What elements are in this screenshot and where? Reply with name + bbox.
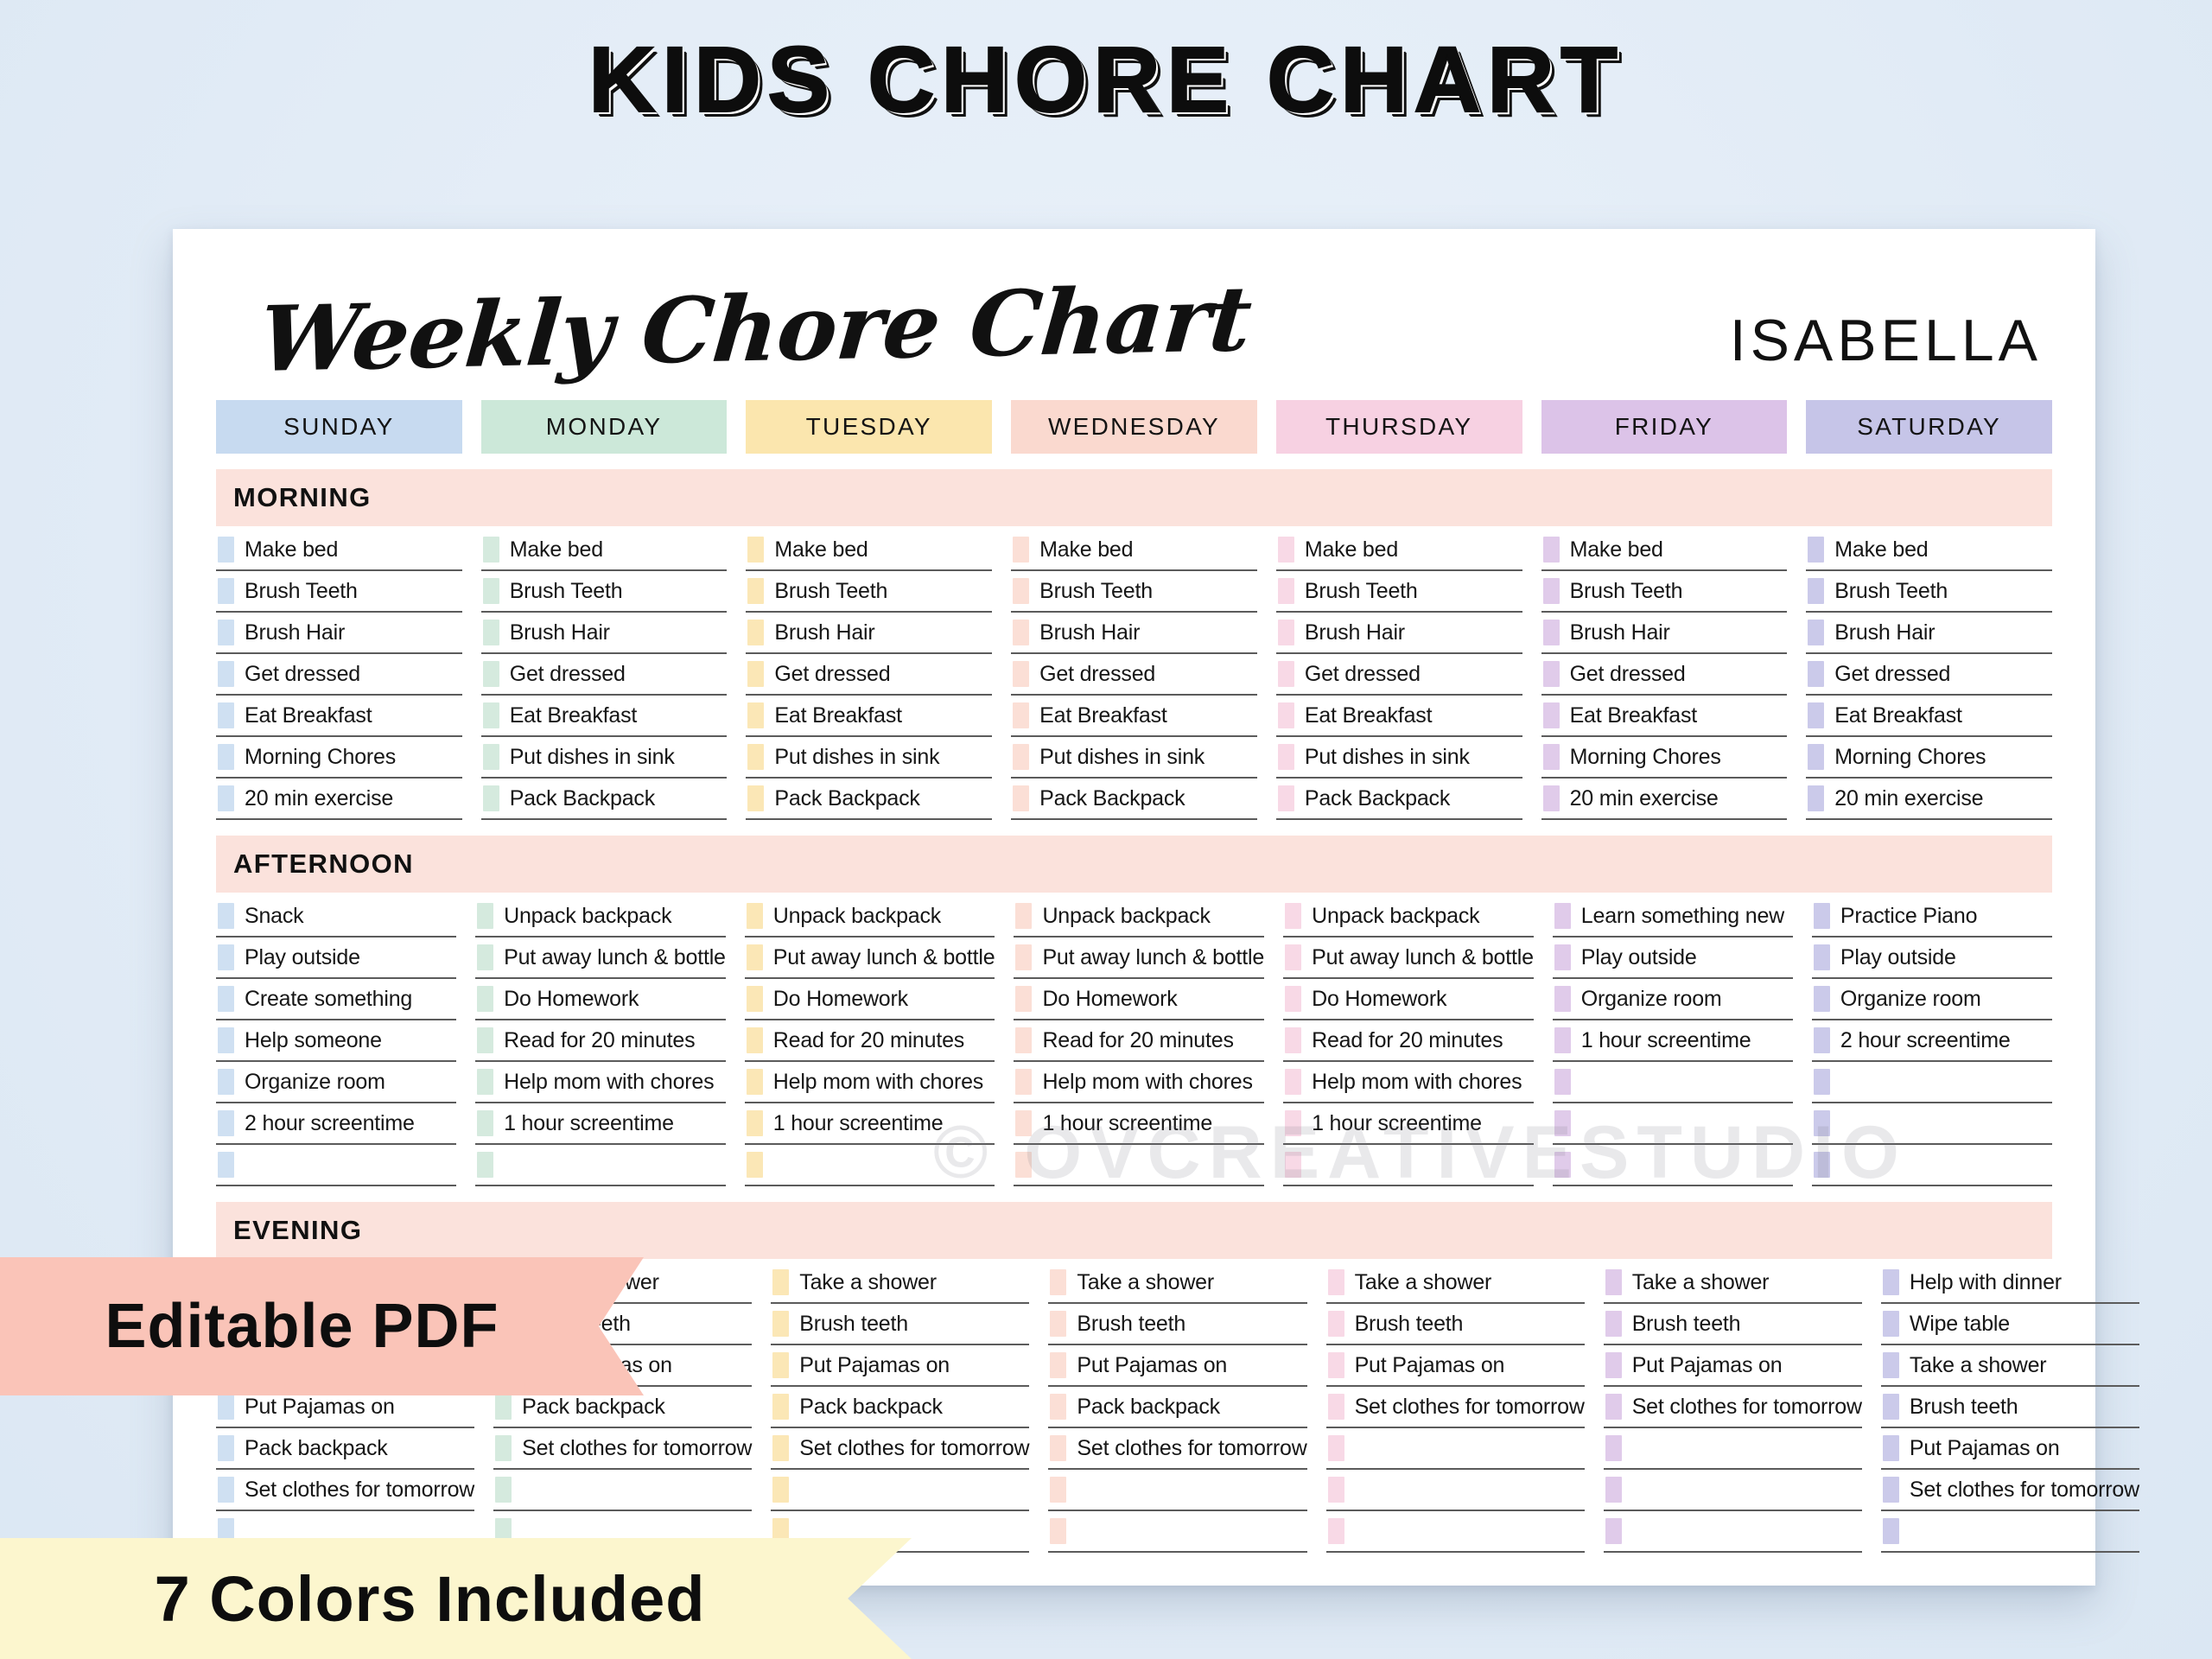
task-label: Brush Teeth <box>774 579 887 604</box>
task-row[interactable]: Help mom with chores <box>745 1062 995 1103</box>
checkbox-icon[interactable] <box>218 903 234 929</box>
checkbox-icon[interactable] <box>772 1477 789 1503</box>
checkbox-icon[interactable] <box>747 785 764 811</box>
task-row[interactable]: Put Pajamas on <box>1048 1345 1306 1387</box>
task-row[interactable]: Brush Hair <box>1541 613 1788 654</box>
task-row[interactable]: Learn something new <box>1553 896 1793 938</box>
task-row[interactable]: Make bed <box>216 530 462 571</box>
checkbox-icon[interactable] <box>1554 986 1571 1012</box>
task-row[interactable]: Read for 20 minutes <box>475 1020 726 1062</box>
task-row[interactable]: Brush teeth <box>1604 1304 1862 1345</box>
task-row[interactable]: Put away lunch & bottle <box>475 938 726 979</box>
task-row[interactable]: Get dressed <box>1541 654 1788 696</box>
checkbox-icon[interactable] <box>747 702 764 728</box>
checkbox-icon[interactable] <box>1808 702 1824 728</box>
checkbox-icon[interactable] <box>1013 702 1029 728</box>
checkbox-icon[interactable] <box>1808 785 1824 811</box>
task-row[interactable]: Read for 20 minutes <box>1283 1020 1534 1062</box>
task-row[interactable]: Morning Chores <box>1806 737 2052 779</box>
checkbox-icon[interactable] <box>218 702 234 728</box>
checkbox-icon[interactable] <box>1050 1477 1066 1503</box>
task-row[interactable]: Pack Backpack <box>1011 779 1257 820</box>
task-row[interactable]: Make bed <box>1806 530 2052 571</box>
checkbox-icon[interactable] <box>1543 620 1560 645</box>
checkbox-icon[interactable] <box>747 986 763 1012</box>
task-row[interactable]: Do Homework <box>1283 979 1534 1020</box>
checkbox-icon[interactable] <box>1013 785 1029 811</box>
task-row[interactable]: Get dressed <box>746 654 992 696</box>
task-row[interactable]: Set clothes for tomorrow <box>216 1470 474 1511</box>
task-row[interactable]: Morning Chores <box>216 737 462 779</box>
task-row[interactable]: Put away lunch & bottle <box>1014 938 1264 979</box>
checkbox-icon[interactable] <box>747 1110 763 1136</box>
checkbox-icon[interactable] <box>483 702 499 728</box>
task-row[interactable]: Get dressed <box>1011 654 1257 696</box>
checkbox-icon[interactable] <box>1543 785 1560 811</box>
checkbox-icon[interactable] <box>1554 903 1571 929</box>
task-row[interactable]: Put away lunch & bottle <box>1283 938 1534 979</box>
checkbox-icon[interactable] <box>1814 903 1830 929</box>
task-row[interactable]: Pack backpack <box>771 1387 1029 1428</box>
task-row[interactable] <box>1048 1470 1306 1511</box>
checkbox-icon[interactable] <box>747 620 764 645</box>
day-header-saturday[interactable]: SATURDAY <box>1806 400 2052 454</box>
checkbox-icon[interactable] <box>1278 620 1294 645</box>
checkbox-icon[interactable] <box>1808 578 1824 604</box>
task-row[interactable]: Put Pajamas on <box>1326 1345 1585 1387</box>
task-label: Do Homework <box>1042 987 1177 1012</box>
task-row[interactable] <box>1812 1062 2052 1103</box>
checkbox-icon[interactable] <box>747 944 763 970</box>
task-row[interactable]: Set clothes for tomorrow <box>493 1428 752 1470</box>
checkbox-icon[interactable] <box>218 1435 234 1461</box>
checkbox-icon[interactable] <box>477 944 493 970</box>
task-row[interactable]: Eat Breakfast <box>216 696 462 737</box>
checkbox-icon[interactable] <box>483 785 499 811</box>
checkbox-icon[interactable] <box>772 1352 789 1378</box>
checkbox-icon[interactable] <box>218 537 234 563</box>
checkbox-icon[interactable] <box>1278 744 1294 770</box>
checkbox-icon[interactable] <box>1050 1311 1066 1337</box>
checkbox-icon[interactable] <box>1328 1435 1344 1461</box>
day-header-monday[interactable]: MONDAY <box>481 400 728 454</box>
task-row[interactable]: Put dishes in sink <box>1011 737 1257 779</box>
day-header-sunday[interactable]: SUNDAY <box>216 400 462 454</box>
checkbox-icon[interactable] <box>1883 1435 1899 1461</box>
checkbox-icon[interactable] <box>1543 537 1560 563</box>
checkbox-icon[interactable] <box>1015 1027 1032 1053</box>
task-row[interactable]: Eat Breakfast <box>1276 696 1522 737</box>
task-row[interactable]: Put dishes in sink <box>1276 737 1522 779</box>
task-row[interactable] <box>1553 1062 1793 1103</box>
checkbox-icon[interactable] <box>772 1311 789 1337</box>
checkbox-icon[interactable] <box>747 1027 763 1053</box>
day-header-tuesday[interactable]: TUESDAY <box>746 400 992 454</box>
checkbox-icon[interactable] <box>772 1435 789 1461</box>
checkbox-icon[interactable] <box>218 744 234 770</box>
task-row[interactable]: Make bed <box>481 530 728 571</box>
checkbox-icon[interactable] <box>483 661 499 687</box>
task-row[interactable]: Create something <box>216 979 456 1020</box>
task-row[interactable]: Brush Teeth <box>481 571 728 613</box>
checkbox-icon[interactable] <box>1285 1152 1301 1178</box>
task-row[interactable]: Help mom with chores <box>1283 1062 1534 1103</box>
task-row[interactable]: Eat Breakfast <box>1806 696 2052 737</box>
task-row[interactable]: Snack <box>216 896 456 938</box>
checkbox-icon[interactable] <box>483 537 499 563</box>
task-row[interactable]: Brush Teeth <box>1806 571 2052 613</box>
checkbox-icon[interactable] <box>218 661 234 687</box>
checkbox-icon[interactable] <box>1328 1394 1344 1420</box>
task-row[interactable]: Brush Teeth <box>1011 571 1257 613</box>
day-header-wednesday[interactable]: WEDNESDAY <box>1011 400 1257 454</box>
task-row[interactable]: Brush Hair <box>1806 613 2052 654</box>
task-row[interactable]: Take a shower <box>1881 1345 2139 1387</box>
checkbox-icon[interactable] <box>1285 1027 1301 1053</box>
checkbox-icon[interactable] <box>772 1394 789 1420</box>
task-label: Brush teeth <box>1077 1312 1185 1337</box>
day-header-thursday[interactable]: THURSDAY <box>1276 400 1522 454</box>
task-row[interactable]: Organize room <box>216 1062 456 1103</box>
task-row[interactable] <box>1604 1428 1862 1470</box>
checkbox-icon[interactable] <box>495 1435 512 1461</box>
checkbox-icon[interactable] <box>1554 1069 1571 1095</box>
checkbox-icon[interactable] <box>1278 702 1294 728</box>
task-row[interactable]: Brush Teeth <box>216 571 462 613</box>
checkbox-icon[interactable] <box>1605 1477 1622 1503</box>
task-row[interactable]: Brush teeth <box>1881 1387 2139 1428</box>
checkbox-icon[interactable] <box>1814 1069 1830 1095</box>
task-row[interactable]: Help with dinner <box>1881 1262 2139 1304</box>
checkbox-icon[interactable] <box>1050 1518 1066 1544</box>
checkbox-icon[interactable] <box>1883 1477 1899 1503</box>
checkbox-icon[interactable] <box>1543 744 1560 770</box>
checkbox-icon[interactable] <box>747 1152 763 1178</box>
checkbox-icon[interactable] <box>218 620 234 645</box>
task-label: Set clothes for tomorrow <box>1077 1436 1306 1461</box>
checkbox-icon[interactable] <box>1015 1110 1032 1136</box>
checkbox-icon[interactable] <box>1814 986 1830 1012</box>
task-row[interactable]: Read for 20 minutes <box>1014 1020 1264 1062</box>
task-row[interactable]: 2 hour screentime <box>216 1103 456 1145</box>
task-row[interactable]: Put away lunch & bottle <box>745 938 995 979</box>
checkbox-icon[interactable] <box>1015 903 1032 929</box>
task-row[interactable]: Morning Chores <box>1541 737 1788 779</box>
task-row[interactable]: Play outside <box>1553 938 1793 979</box>
task-row[interactable]: Set clothes for tomorrow <box>771 1428 1029 1470</box>
checkbox-icon[interactable] <box>1285 944 1301 970</box>
task-row[interactable] <box>1048 1511 1306 1553</box>
task-row[interactable]: Unpack backpack <box>475 896 726 938</box>
checkbox-icon[interactable] <box>1015 944 1032 970</box>
task-label: Do Homework <box>773 987 908 1012</box>
task-label: Set clothes for tomorrow <box>1355 1395 1585 1420</box>
checkbox-icon[interactable] <box>1328 1518 1344 1544</box>
task-row[interactable]: Unpack backpack <box>1283 896 1534 938</box>
task-row[interactable] <box>1326 1428 1585 1470</box>
checkbox-icon[interactable] <box>1814 1152 1830 1178</box>
task-row[interactable]: Brush Teeth <box>746 571 992 613</box>
task-label: Brush Hair <box>245 620 345 645</box>
task-row[interactable]: Take a shower <box>1326 1262 1585 1304</box>
checkbox-icon[interactable] <box>1278 785 1294 811</box>
task-row[interactable]: Brush teeth <box>1326 1304 1585 1345</box>
checkbox-icon[interactable] <box>1605 1518 1622 1544</box>
checkbox-icon[interactable] <box>483 578 499 604</box>
task-row[interactable]: 1 hour screentime <box>1553 1020 1793 1062</box>
checkbox-icon[interactable] <box>772 1269 789 1295</box>
checkbox-icon[interactable] <box>218 578 234 604</box>
checkbox-icon[interactable] <box>1328 1352 1344 1378</box>
task-row[interactable]: Get dressed <box>216 654 462 696</box>
task-row[interactable] <box>1553 1103 1793 1145</box>
task-row[interactable]: Play outside <box>216 938 456 979</box>
checkbox-icon[interactable] <box>1883 1518 1899 1544</box>
checkbox-icon[interactable] <box>1808 620 1824 645</box>
task-row[interactable] <box>1326 1470 1585 1511</box>
checkbox-icon[interactable] <box>218 1110 234 1136</box>
checkbox-icon[interactable] <box>1015 986 1032 1012</box>
task-row[interactable]: 1 hour screentime <box>1014 1103 1264 1145</box>
checkbox-icon[interactable] <box>1050 1435 1066 1461</box>
checkbox-icon[interactable] <box>218 1152 234 1178</box>
checkbox-icon[interactable] <box>1605 1435 1622 1461</box>
task-row[interactable]: Put Pajamas on <box>1604 1345 1862 1387</box>
task-row[interactable]: Make bed <box>746 530 992 571</box>
task-label: Help mom with chores <box>1312 1070 1522 1095</box>
checkbox-icon[interactable] <box>218 944 234 970</box>
checkbox-icon[interactable] <box>483 744 499 770</box>
checkbox-icon[interactable] <box>1554 1152 1571 1178</box>
task-label: Pack backpack <box>799 1395 943 1420</box>
task-row[interactable]: Brush Hair <box>216 613 462 654</box>
task-row[interactable]: Put dishes in sink <box>746 737 992 779</box>
task-row[interactable] <box>1812 1103 2052 1145</box>
task-row[interactable]: Get dressed <box>481 654 728 696</box>
task-grid-afternoon: SnackPlay outsideCreate somethingHelp so… <box>216 896 2052 1186</box>
task-row[interactable]: 20 min exercise <box>1541 779 1788 820</box>
checkbox-icon[interactable] <box>1013 537 1029 563</box>
task-row[interactable]: Wipe table <box>1881 1304 2139 1345</box>
task-row[interactable]: Practice Piano <box>1812 896 2052 938</box>
checkbox-icon[interactable] <box>477 903 493 929</box>
checkbox-icon[interactable] <box>477 1110 493 1136</box>
checkbox-icon[interactable] <box>747 661 764 687</box>
task-row[interactable] <box>1553 1145 1793 1186</box>
checkbox-icon[interactable] <box>747 578 764 604</box>
task-row[interactable]: Brush teeth <box>771 1304 1029 1345</box>
task-row[interactable]: Unpack backpack <box>745 896 995 938</box>
checkbox-icon[interactable] <box>1013 620 1029 645</box>
task-label: Eat Breakfast <box>774 703 901 728</box>
task-row[interactable]: Play outside <box>1812 938 2052 979</box>
task-row[interactable]: Organize room <box>1812 979 2052 1020</box>
task-row[interactable]: Eat Breakfast <box>746 696 992 737</box>
checkbox-icon[interactable] <box>1814 944 1830 970</box>
task-row[interactable]: Eat Breakfast <box>1011 696 1257 737</box>
task-row[interactable]: Set clothes for tomorrow <box>1326 1387 1585 1428</box>
checkbox-icon[interactable] <box>1013 661 1029 687</box>
checkbox-icon[interactable] <box>1883 1352 1899 1378</box>
checkbox-icon[interactable] <box>1013 744 1029 770</box>
task-label: Read for 20 minutes <box>773 1028 964 1053</box>
task-row[interactable]: Brush Hair <box>481 613 728 654</box>
checkbox-icon[interactable] <box>1605 1352 1622 1378</box>
checkbox-icon[interactable] <box>477 1152 493 1178</box>
task-row[interactable]: Get dressed <box>1806 654 2052 696</box>
checkbox-icon[interactable] <box>1015 1152 1032 1178</box>
checkbox-icon[interactable] <box>1278 661 1294 687</box>
checkbox-icon[interactable] <box>1285 986 1301 1012</box>
task-row[interactable]: 1 hour screentime <box>1283 1103 1534 1145</box>
task-row[interactable] <box>1014 1145 1264 1186</box>
checkbox-icon[interactable] <box>1328 1269 1344 1295</box>
task-row[interactable]: Make bed <box>1011 530 1257 571</box>
checkbox-icon[interactable] <box>1814 1027 1830 1053</box>
task-row[interactable] <box>745 1145 995 1186</box>
checkbox-icon[interactable] <box>1808 661 1824 687</box>
checkbox-icon[interactable] <box>1605 1311 1622 1337</box>
checkbox-icon[interactable] <box>1814 1110 1830 1136</box>
task-row[interactable]: Help mom with chores <box>1014 1062 1264 1103</box>
checkbox-icon[interactable] <box>495 1477 512 1503</box>
task-row[interactable]: Brush Hair <box>1011 613 1257 654</box>
checkbox-icon[interactable] <box>1883 1311 1899 1337</box>
task-row[interactable]: Take a shower <box>771 1262 1029 1304</box>
task-row[interactable] <box>493 1470 752 1511</box>
checkbox-icon[interactable] <box>1015 1069 1032 1095</box>
checkbox-icon[interactable] <box>1883 1269 1899 1295</box>
task-row[interactable]: Read for 20 minutes <box>745 1020 995 1062</box>
checkbox-icon[interactable] <box>1808 744 1824 770</box>
checkbox-icon[interactable] <box>1278 537 1294 563</box>
checkbox-icon[interactable] <box>218 1394 234 1420</box>
task-row[interactable]: 1 hour screentime <box>475 1103 726 1145</box>
task-row[interactable]: 1 hour screentime <box>745 1103 995 1145</box>
checkbox-icon[interactable] <box>747 537 764 563</box>
task-row[interactable]: Put Pajamas on <box>1881 1428 2139 1470</box>
task-row[interactable]: Set clothes for tomorrow <box>1881 1470 2139 1511</box>
task-row[interactable]: Do Homework <box>1014 979 1264 1020</box>
task-row[interactable] <box>216 1145 456 1186</box>
checkbox-icon[interactable] <box>1050 1394 1066 1420</box>
task-row[interactable]: Brush Teeth <box>1276 571 1522 613</box>
checkbox-icon[interactable] <box>1285 903 1301 929</box>
checkbox-icon[interactable] <box>1554 1027 1571 1053</box>
task-row[interactable]: Pack backpack <box>1048 1387 1306 1428</box>
task-label: Help mom with chores <box>1042 1070 1252 1095</box>
checkbox-icon[interactable] <box>218 785 234 811</box>
task-row[interactable]: Eat Breakfast <box>1541 696 1788 737</box>
task-row[interactable]: Set clothes for tomorrow <box>1604 1387 1862 1428</box>
checkbox-icon[interactable] <box>1285 1069 1301 1095</box>
checkbox-icon[interactable] <box>218 1477 234 1503</box>
task-row[interactable] <box>1326 1511 1585 1553</box>
checkbox-icon[interactable] <box>1554 1110 1571 1136</box>
task-row[interactable] <box>1881 1511 2139 1553</box>
task-row[interactable]: Brush Hair <box>1276 613 1522 654</box>
task-row[interactable] <box>1812 1145 2052 1186</box>
checkbox-icon[interactable] <box>495 1394 512 1420</box>
checkbox-icon[interactable] <box>747 744 764 770</box>
task-row[interactable]: 20 min exercise <box>1806 779 2052 820</box>
checkbox-icon[interactable] <box>1808 537 1824 563</box>
task-row[interactable] <box>1283 1145 1534 1186</box>
task-row[interactable]: Make bed <box>1541 530 1788 571</box>
task-row[interactable]: Eat Breakfast <box>481 696 728 737</box>
checkbox-icon[interactable] <box>218 986 234 1012</box>
task-label: Organize room <box>1581 987 1722 1012</box>
task-row[interactable]: 20 min exercise <box>216 779 462 820</box>
task-row[interactable]: Take a shower <box>1604 1262 1862 1304</box>
task-row[interactable]: Help mom with chores <box>475 1062 726 1103</box>
task-row[interactable]: Put Pajamas on <box>771 1345 1029 1387</box>
checkbox-icon[interactable] <box>747 1069 763 1095</box>
task-row[interactable] <box>771 1470 1029 1511</box>
checkbox-icon[interactable] <box>1543 578 1560 604</box>
checkbox-icon[interactable] <box>1285 1110 1301 1136</box>
task-row[interactable] <box>1604 1511 1862 1553</box>
task-row[interactable]: 2 hour screentime <box>1812 1020 2052 1062</box>
task-row[interactable]: Brush Teeth <box>1541 571 1788 613</box>
task-row[interactable]: Make bed <box>1276 530 1522 571</box>
checkbox-icon[interactable] <box>1278 578 1294 604</box>
task-label: Make bed <box>1570 537 1663 563</box>
checkbox-icon[interactable] <box>1050 1352 1066 1378</box>
checkbox-icon[interactable] <box>1543 702 1560 728</box>
checkbox-icon[interactable] <box>1554 944 1571 970</box>
task-row[interactable]: Do Homework <box>475 979 726 1020</box>
checkbox-icon[interactable] <box>477 1027 493 1053</box>
task-row[interactable]: Organize room <box>1553 979 1793 1020</box>
checkbox-icon[interactable] <box>477 1069 493 1095</box>
checkbox-icon[interactable] <box>1328 1311 1344 1337</box>
task-row[interactable]: Unpack backpack <box>1014 896 1264 938</box>
task-label: Play outside <box>1581 945 1697 970</box>
task-row[interactable] <box>475 1145 726 1186</box>
task-row[interactable]: Set clothes for tomorrow <box>1048 1428 1306 1470</box>
checkbox-icon[interactable] <box>1543 661 1560 687</box>
day-header-friday[interactable]: FRIDAY <box>1541 400 1788 454</box>
task-row[interactable]: Take a shower <box>1048 1262 1306 1304</box>
task-row[interactable]: Brush Hair <box>746 613 992 654</box>
checkbox-icon[interactable] <box>1050 1269 1066 1295</box>
checkbox-icon[interactable] <box>1013 578 1029 604</box>
task-row[interactable]: Brush teeth <box>1048 1304 1306 1345</box>
checkbox-icon[interactable] <box>477 986 493 1012</box>
checkbox-icon[interactable] <box>1328 1477 1344 1503</box>
checkbox-icon[interactable] <box>218 1069 234 1095</box>
task-label: 20 min exercise <box>245 786 393 811</box>
task-row[interactable]: Do Homework <box>745 979 995 1020</box>
task-label: Make bed <box>1039 537 1133 563</box>
task-column-tuesday: Take a showerBrush teethPut Pajamas onPa… <box>771 1262 1029 1553</box>
checkbox-icon[interactable] <box>747 903 763 929</box>
task-row[interactable]: Put dishes in sink <box>481 737 728 779</box>
task-row[interactable]: Help someone <box>216 1020 456 1062</box>
task-row[interactable]: Pack backpack <box>216 1428 474 1470</box>
task-row[interactable]: Pack Backpack <box>481 779 728 820</box>
checkbox-icon[interactable] <box>483 620 499 645</box>
checkbox-icon[interactable] <box>1605 1269 1622 1295</box>
checkbox-icon[interactable] <box>1883 1394 1899 1420</box>
task-row[interactable] <box>1604 1470 1862 1511</box>
checkbox-icon[interactable] <box>1605 1394 1622 1420</box>
checkbox-icon[interactable] <box>218 1027 234 1053</box>
task-row[interactable]: Get dressed <box>1276 654 1522 696</box>
task-row[interactable]: Pack Backpack <box>1276 779 1522 820</box>
task-row[interactable]: Pack Backpack <box>746 779 992 820</box>
